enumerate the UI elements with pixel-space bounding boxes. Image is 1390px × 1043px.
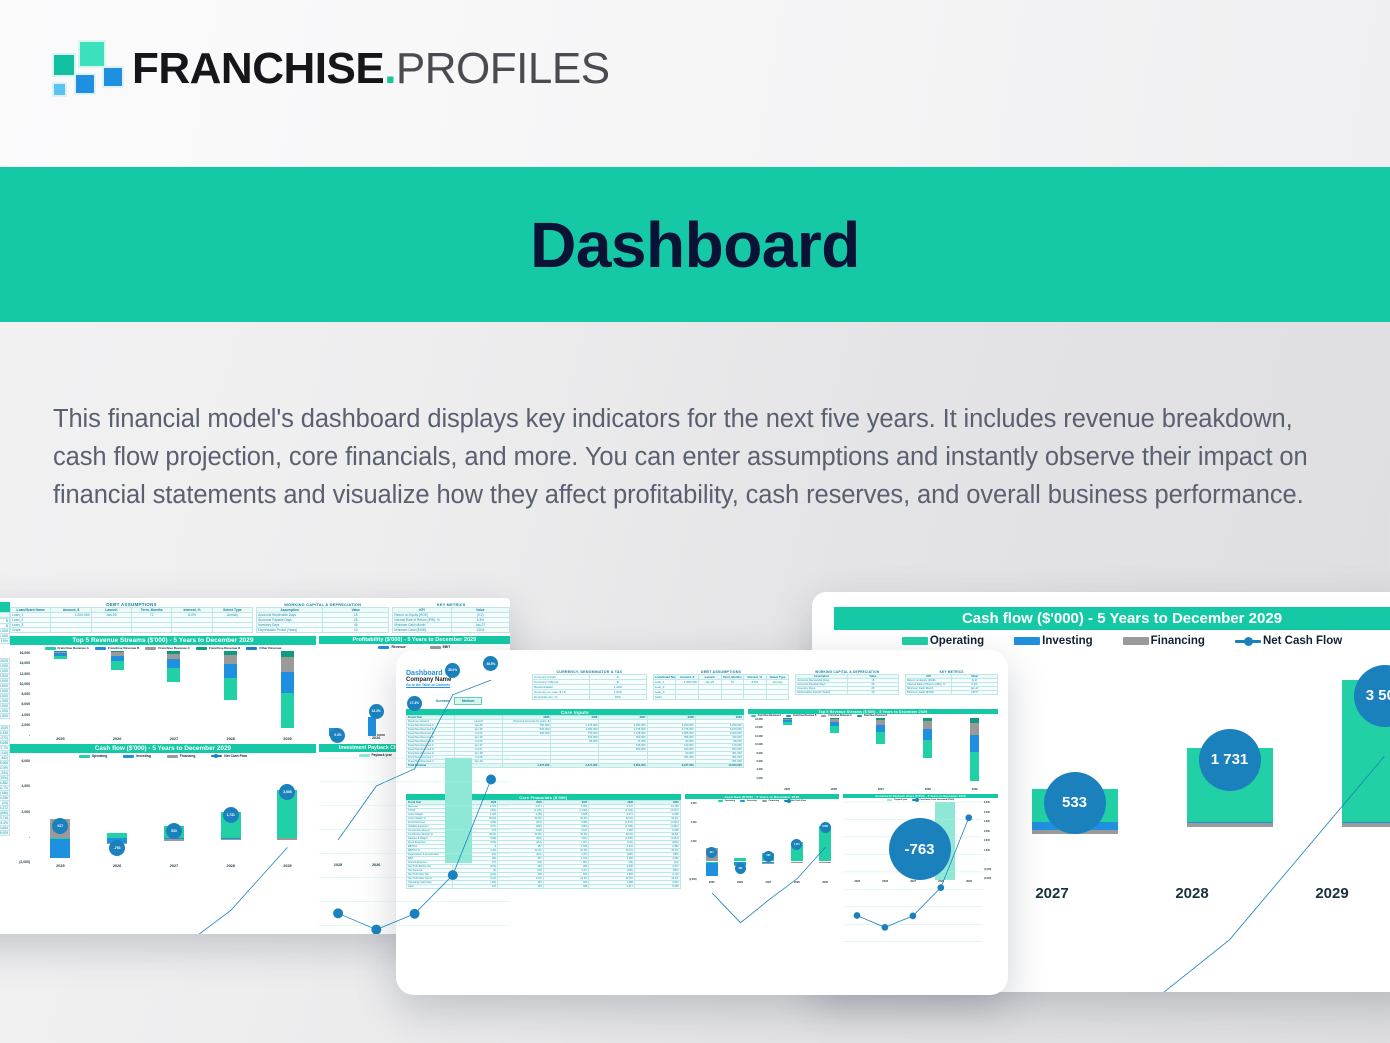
table-row: Depreciation Period (Years)10 <box>257 628 389 633</box>
table-cell: 5,925 <box>634 885 680 889</box>
axis-tick: 10,000 <box>748 743 763 746</box>
cashflow-chart-title-right: Cash flow ($'000) - 5 Years to December … <box>834 607 1390 630</box>
axis-tick: 2,000 <box>748 777 763 780</box>
table-cell <box>676 695 699 700</box>
table-cell <box>172 628 212 633</box>
center-cashflow-y-axis: 6,0004,0002,000-(2,000) <box>685 803 698 881</box>
data-label-bubble: 35.0% <box>445 663 460 678</box>
data-label-bubble: -763 <box>109 840 125 856</box>
axis-tick: 12,000 <box>748 735 763 738</box>
axis-tick: - <box>10 835 30 839</box>
table-cell <box>766 695 789 700</box>
legend-financing-right: Financing <box>1123 635 1205 647</box>
data-label-bubble: 533 <box>1044 772 1106 834</box>
axis-tick: 2029 <box>283 737 291 741</box>
legend-investing: Investing <box>123 754 150 758</box>
table-cell <box>744 695 767 700</box>
table-row: 14,520,000 <box>0 714 10 719</box>
legend-c-fb: Franchise Revenue B <box>786 715 816 717</box>
table-cell: 2,417 <box>589 885 635 889</box>
axis-tick: 2026 <box>831 788 837 791</box>
axis-tick: (2,000) <box>685 879 697 881</box>
axis-tick: 2,000 <box>10 723 30 727</box>
page-title-banner: Dashboard <box>0 167 1390 322</box>
table-row: Grant <box>653 695 789 700</box>
data-label-bubble: 3,508 <box>820 822 831 833</box>
page-title: Dashboard <box>530 208 860 282</box>
data-label-bubble: -763 <box>889 818 951 880</box>
table-cell <box>698 695 721 700</box>
table-cell: 15% <box>0 639 10 644</box>
table-cell: Grant <box>11 628 51 633</box>
table-cell: 130.5 <box>451 628 509 633</box>
cashflow-y-axis-left: 6,0004,0002,000-(2,000) <box>10 759 32 864</box>
axis-tick: 8,000 <box>10 692 30 696</box>
axis-tick: 2,000 <box>10 810 30 814</box>
legend-franchise-d: Franchise Revenue D <box>196 646 240 650</box>
legend-net-cash-flow-right: Net Cash Flow <box>1235 635 1342 647</box>
legend-c-fa: Franchise Revenue A <box>751 715 781 717</box>
axis-tick: 16,000 <box>10 651 30 655</box>
brand-name-light: PROFILES <box>396 44 610 93</box>
axis-tick: - <box>685 860 697 862</box>
table-cell: Depreciation Period (Years) <box>796 691 847 695</box>
data-label-bubble: -763 <box>735 863 746 874</box>
table-cell: 15% <box>589 695 646 700</box>
legend-investing-right: Investing <box>1014 635 1092 647</box>
financial-column: 202914,339(3,272)9,69867.7%(2,240)(1,462… <box>0 725 10 836</box>
table-cell: Depreciation Period (Years) <box>257 628 323 633</box>
cashflow-plot-right: -7635331 7313 508 <box>842 664 1390 879</box>
bar-group <box>830 718 839 788</box>
logo-squares-icon <box>52 40 114 98</box>
axis-tick: 2027 <box>170 737 178 741</box>
screenshot-panel-left[interactable]: & TAX $$1,0001,00015% 20295,250,0004,150… <box>0 598 510 934</box>
bar-group <box>281 651 294 737</box>
cashflow-chart-title-left: Cash flow ($'000) - 5 Years to December … <box>10 744 316 753</box>
net-cash-flow-line <box>60 847 287 934</box>
legend-franchise-a: Franchise Revenue A <box>45 646 89 650</box>
data-label-bubble: 917 <box>52 818 68 834</box>
axis-tick: 16,000 <box>748 718 763 721</box>
tax-header: & TAX <box>0 613 10 618</box>
header-band: FRANCHISE.PROFILES <box>0 0 1390 167</box>
center-top5-y-axis: 16,00014,00012,00010,0008,0006,0004,0002… <box>748 718 764 788</box>
table-cell: 14,520,000 <box>695 764 743 768</box>
axis-tick: 6,000 <box>10 702 30 706</box>
cashflow-legend-right: Operating Investing Financing Net Cash F… <box>812 630 1390 648</box>
legend-net-cash-flow: Net Cash Flow <box>211 754 247 758</box>
table-cell: 2029 <box>695 716 743 720</box>
column-header: Loan/Grant Name <box>11 608 51 613</box>
debt-assumptions-table: Loan/Grant NameAmount, $LaunchTerm, Mont… <box>10 607 253 633</box>
key-metrics-table: KPIValueReturn on Equity (ROE)(0.2)Inter… <box>392 607 510 633</box>
data-label-bubble: 533 <box>763 851 774 862</box>
table-cell <box>212 628 252 633</box>
legend-franchise-c: Franchise Revenue C <box>145 646 189 650</box>
table-cell: 686 <box>543 885 589 889</box>
tax-column: $$1,0001,00015% <box>0 618 10 644</box>
legend-other-revenue: Other Revenue <box>246 646 281 650</box>
table-row: Corporate tax, %15% <box>533 695 647 700</box>
axis-tick: 6,000 <box>748 760 763 763</box>
legend-financing: Financing <box>167 754 196 758</box>
bar-group <box>54 651 67 737</box>
profitability-chart-title: Profitability ($'000) - 5 Years to Decem… <box>319 636 510 644</box>
axis-tick: - <box>748 785 763 788</box>
legend-operating: Operating <box>79 754 108 758</box>
column-header: Select Type <box>766 675 789 680</box>
top5-chart-title: Top 5 Revenue Streams ($'000) - 5 Years … <box>10 636 316 645</box>
data-point <box>966 814 973 821</box>
table-cell: 14,520,000 <box>0 714 10 719</box>
bar-group <box>224 651 237 737</box>
table-row: 5,925 <box>0 831 10 836</box>
center-debt-table: Loan/Grant NameAmount, $LaunchTerm, Mont… <box>653 674 790 700</box>
column-header: Term, Months <box>721 675 744 680</box>
axis-tick: 8,000 <box>748 752 763 755</box>
axis-tick: 2025 <box>784 788 790 791</box>
axis-tick: - <box>10 733 30 737</box>
brand-wordmark: FRANCHISE.PROFILES <box>132 47 610 91</box>
table-cell: 9,047,000 <box>647 764 695 768</box>
legend-franchise-b: Franchise Revenue B <box>95 646 139 650</box>
top5-x-axis: 20252026202720282029 <box>10 737 316 741</box>
data-label-bubble: 533 <box>166 823 182 839</box>
axis-tick: 2025 <box>56 737 64 741</box>
table-cell: 5,925 <box>0 831 10 836</box>
legend-c-ncf: Net Cash Flow <box>784 800 806 802</box>
data-label-bubble: 1 731 <box>1199 729 1261 791</box>
data-label-bubble: 13.2% <box>369 704 384 719</box>
table-row: Grant <box>11 628 253 633</box>
table-cell: 5,854,000 <box>599 764 647 768</box>
brand-name-dot: . <box>384 44 396 93</box>
net-cash-flow-line <box>920 756 1385 992</box>
legend-operating-right: Operating <box>902 635 984 647</box>
axis-tick: 4,000 <box>10 713 30 717</box>
table-cell <box>721 695 744 700</box>
table-cell: 3,471,000 <box>551 764 599 768</box>
axis-tick: 2028 <box>226 737 234 741</box>
working-capital-table: AssumptionValueAccounts Receivable Days1… <box>256 607 389 633</box>
table-cell: Minimum Cash ($'000) <box>393 628 451 633</box>
brand-logo: FRANCHISE.PROFILES <box>52 40 610 98</box>
legend-c-fin: Financing <box>762 800 779 802</box>
description-text: This financial model's dashboard display… <box>53 400 1343 514</box>
net-cash-flow-line <box>338 780 491 930</box>
axis-tick: 12,000 <box>10 672 30 676</box>
currency-table: Currency Inputs$Currency Outputs$Denomin… <box>532 674 647 700</box>
axis-tick: 2,000 <box>685 841 697 843</box>
axis-tick: 14,000 <box>748 726 763 729</box>
axis-tick: 4,000 <box>685 822 697 824</box>
axis-tick: 4,000 <box>10 784 30 788</box>
legend-revenue: Revenue <box>378 645 405 649</box>
legend-ebit: EBIT <box>430 645 451 649</box>
table-cell: Grant <box>653 695 676 700</box>
top5-y-axis: 16,00014,00012,00010,0008,0006,0004,0002… <box>10 651 32 737</box>
column-header: Loan/Grant Name <box>653 675 676 680</box>
table-cell <box>91 628 131 633</box>
bar-group <box>111 651 124 737</box>
axis-tick: 6,000 <box>685 803 697 805</box>
axis-tick: 14,000 <box>10 661 30 665</box>
axis-tick: 2026 <box>113 737 121 741</box>
legend-c-op: Operating <box>718 800 735 802</box>
table-cell: 10 <box>323 628 389 633</box>
bar-group <box>167 651 180 737</box>
table-row: 15% <box>0 639 10 644</box>
axis-tick: (2,000) <box>10 860 30 864</box>
axis-tick: 6,000 <box>10 759 30 763</box>
axis-tick: 4,000 <box>748 768 763 771</box>
data-label-bubble: 1,731 <box>223 807 239 823</box>
bar-group <box>783 718 792 788</box>
table-cell <box>132 628 172 633</box>
data-label-bubble: 17.3% <box>407 696 422 711</box>
table-cell: Corporate tax, % <box>533 695 590 700</box>
table-cell <box>51 628 91 633</box>
table-row: Minimum Cash ($'000)130.5 <box>393 628 510 633</box>
legend-c-inv: Investing <box>740 800 757 802</box>
axis-tick: 10,000 <box>10 682 30 686</box>
brand-name-bold: FRANCHISE <box>132 44 384 93</box>
revenue-column: 20295,250,0004,150,0003,300,000420,00060… <box>0 658 10 719</box>
